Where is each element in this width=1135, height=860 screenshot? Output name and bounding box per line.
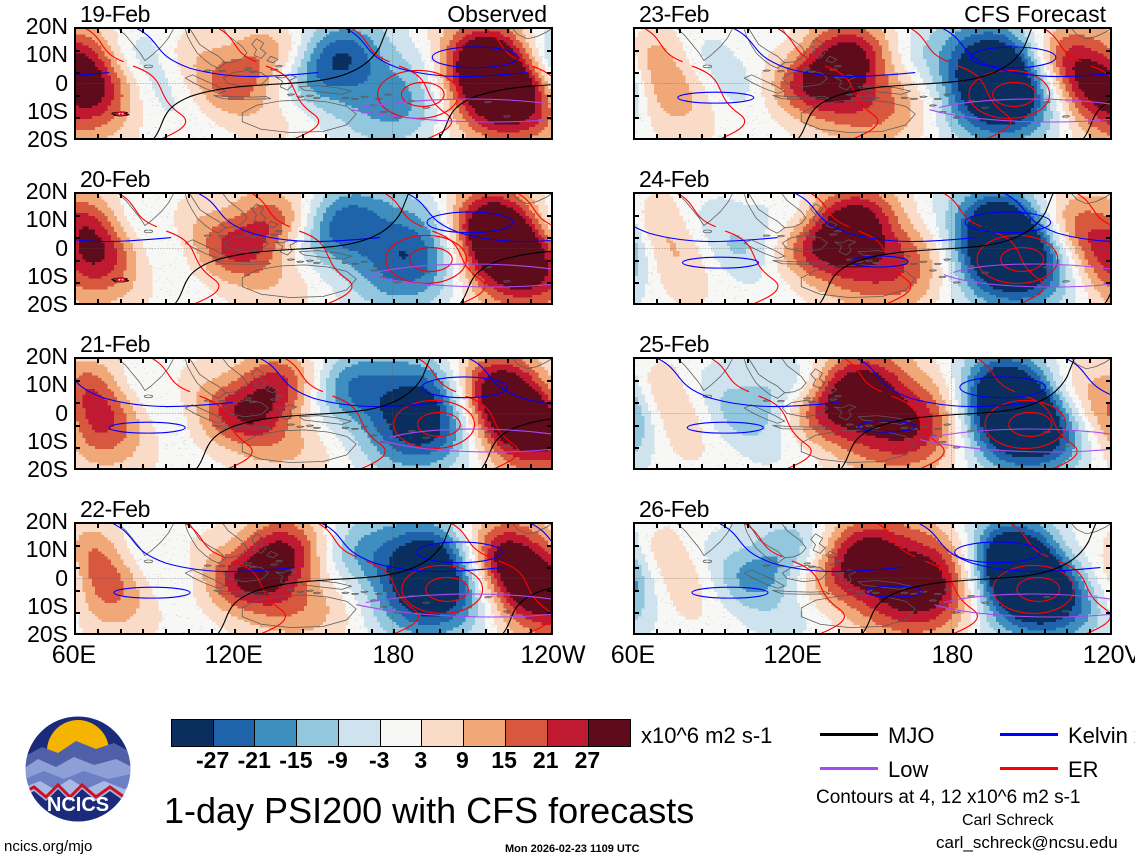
axis-tick (211, 134, 213, 140)
axis-tick (547, 380, 553, 382)
axis-tick (120, 299, 122, 305)
axis-tick (547, 447, 553, 449)
axis-tick (952, 464, 954, 470)
axis-tick (393, 629, 395, 635)
axis-tick (74, 567, 80, 569)
y-tick-label: 10N (0, 206, 68, 233)
axis-tick (1021, 464, 1023, 470)
axis-tick (1089, 299, 1091, 305)
axis-tick (302, 357, 304, 363)
axis-tick (861, 192, 863, 198)
axis-tick (815, 629, 817, 635)
axis-tick (302, 522, 304, 528)
axis-tick (1044, 357, 1046, 363)
colorbar-segment (296, 720, 338, 746)
axis-tick (633, 95, 639, 97)
axis-tick (279, 522, 281, 528)
axis-tick (439, 134, 441, 140)
axis-tick (1106, 447, 1112, 449)
axis-tick (462, 629, 464, 635)
axis-tick (188, 629, 190, 635)
axis-tick (279, 299, 281, 305)
axis-tick (507, 629, 509, 635)
axis-tick (416, 464, 418, 470)
axis-tick (633, 215, 639, 217)
axis-tick (884, 134, 886, 140)
axis-tick (547, 95, 553, 97)
axis-tick (188, 522, 190, 528)
axis-tick (234, 629, 236, 635)
axis-tick (74, 260, 80, 262)
axis-tick (234, 192, 236, 198)
axis-tick (633, 237, 639, 239)
axis-tick (1106, 590, 1112, 592)
axis-tick (97, 192, 99, 198)
axis-tick (74, 590, 80, 592)
axis-tick (142, 192, 144, 198)
svg-text:H: H (118, 113, 124, 115)
axis-tick (348, 192, 350, 198)
axis-tick (439, 357, 441, 363)
axis-tick (439, 522, 441, 528)
axis-tick (656, 299, 658, 305)
site-url: ncics.org/mjo (4, 838, 92, 855)
axis-tick (120, 192, 122, 198)
axis-tick (507, 134, 509, 140)
axis-tick (1106, 95, 1112, 97)
axis-tick (325, 464, 327, 470)
legend-label: MJO (888, 723, 934, 749)
colorbar-tick-label: 27 (557, 747, 617, 774)
axis-tick (747, 357, 749, 363)
axis-tick (724, 299, 726, 305)
axis-tick (679, 299, 681, 305)
axis-tick (701, 192, 703, 198)
axis-tick (462, 522, 464, 528)
axis-tick (74, 95, 80, 97)
axis-tick (1106, 567, 1112, 569)
axis-tick (633, 260, 639, 262)
panel-26-feb-forecast (633, 522, 1112, 635)
axis-tick (1106, 237, 1112, 239)
axis-tick (998, 629, 1000, 635)
axis-tick (142, 522, 144, 528)
axis-tick (633, 282, 639, 284)
axis-tick (724, 522, 726, 528)
axis-tick (907, 357, 909, 363)
panel-date-label: 26-Feb (639, 496, 709, 523)
x-tick-label: 120W (509, 641, 597, 670)
axis-tick (998, 464, 1000, 470)
axis-tick (907, 192, 909, 198)
axis-tick (838, 629, 840, 635)
colorbar-segment (213, 720, 255, 746)
axis-tick (930, 299, 932, 305)
axis-tick (724, 629, 726, 635)
axis-tick (530, 192, 532, 198)
axis-tick (1089, 134, 1091, 140)
axis-tick (793, 134, 795, 140)
axis-tick (884, 357, 886, 363)
axis-tick (770, 357, 772, 363)
axis-tick (975, 464, 977, 470)
y-tick-label: 10N (0, 536, 68, 563)
axis-tick (547, 567, 553, 569)
axis-tick (507, 192, 509, 198)
axis-tick (234, 464, 236, 470)
y-tick-label: 0 (0, 400, 68, 427)
axis-tick (793, 522, 795, 528)
axis-tick (861, 134, 863, 140)
axis-tick (142, 299, 144, 305)
axis-tick (302, 299, 304, 305)
axis-tick (256, 357, 258, 363)
y-tick-label: 0 (0, 235, 68, 262)
axis-tick (1021, 522, 1023, 528)
axis-tick (1106, 282, 1112, 284)
axis-tick (97, 299, 99, 305)
axis-tick (325, 192, 327, 198)
axis-tick (633, 117, 639, 119)
y-tick-label: 10N (0, 41, 68, 68)
axis-tick (793, 192, 795, 198)
axis-tick (884, 464, 886, 470)
axis-tick (998, 192, 1000, 198)
axis-tick (211, 522, 213, 528)
axis-tick (701, 464, 703, 470)
axis-tick (815, 522, 817, 528)
colorbar-segment (463, 720, 505, 746)
axis-tick (838, 299, 840, 305)
axis-tick (1021, 134, 1023, 140)
axis-tick (371, 357, 373, 363)
x-tick-label: 120E (190, 641, 278, 670)
x-tick-label: 120V (1068, 641, 1135, 670)
axis-tick (679, 357, 681, 363)
axis-tick (74, 545, 80, 547)
axis-tick (998, 299, 1000, 305)
axis-tick (1106, 260, 1112, 262)
axis-tick (656, 629, 658, 635)
axis-tick (142, 357, 144, 363)
axis-tick (97, 464, 99, 470)
axis-tick (656, 522, 658, 528)
axis-tick (507, 299, 509, 305)
axis-tick (656, 192, 658, 198)
colorbar (171, 719, 631, 747)
axis-tick (861, 299, 863, 305)
axis-tick (679, 464, 681, 470)
axis-tick (1089, 192, 1091, 198)
axis-tick (747, 299, 749, 305)
axis-tick (234, 134, 236, 140)
axis-tick (416, 299, 418, 305)
axis-tick (975, 357, 977, 363)
axis-tick (348, 299, 350, 305)
axis-tick (930, 464, 932, 470)
axis-tick (393, 522, 395, 528)
axis-tick (701, 299, 703, 305)
y-tick-label: 10N (0, 371, 68, 398)
axis-tick (633, 50, 639, 52)
axis-tick (530, 134, 532, 140)
axis-tick (279, 192, 281, 198)
axis-tick (393, 464, 395, 470)
axis-tick (633, 447, 639, 449)
axis-tick (188, 192, 190, 198)
axis-tick (530, 299, 532, 305)
axis-tick (256, 522, 258, 528)
colorbar-unit-label: x10^6 m2 s-1 (641, 723, 772, 749)
axis-tick (507, 464, 509, 470)
axis-tick (1021, 192, 1023, 198)
axis-tick (1106, 425, 1112, 427)
axis-tick (747, 134, 749, 140)
panel-24-feb-forecast (633, 192, 1112, 305)
axis-tick (256, 134, 258, 140)
axis-tick (907, 134, 909, 140)
axis-tick (975, 629, 977, 635)
axis-tick (952, 357, 954, 363)
axis-tick (1066, 357, 1068, 363)
axis-tick (1021, 629, 1023, 635)
y-tick-label: 20S (0, 456, 68, 483)
y-tick-label: 10S (0, 263, 68, 290)
axis-tick (439, 192, 441, 198)
axis-tick (1106, 50, 1112, 52)
axis-tick (462, 357, 464, 363)
axis-tick (656, 134, 658, 140)
axis-tick (165, 192, 167, 198)
ncics-logo: NCICS (24, 715, 132, 828)
axis-tick (348, 629, 350, 635)
axis-tick (1021, 357, 1023, 363)
panel-23-feb-forecast (633, 27, 1112, 140)
axis-tick (165, 629, 167, 635)
axis-tick (547, 590, 553, 592)
axis-tick (256, 192, 258, 198)
axis-tick (462, 299, 464, 305)
x-tick-label: 180 (349, 641, 437, 670)
axis-tick (530, 629, 532, 635)
axis-tick (74, 237, 80, 239)
axis-tick (1066, 629, 1068, 635)
axis-tick (279, 134, 281, 140)
axis-tick (952, 134, 954, 140)
axis-tick (633, 72, 639, 74)
axis-tick (679, 629, 681, 635)
axis-tick (793, 464, 795, 470)
axis-tick (838, 134, 840, 140)
panel-25-feb-forecast (633, 357, 1112, 470)
x-tick-label: 120E (749, 641, 837, 670)
axis-tick (724, 134, 726, 140)
axis-tick (485, 629, 487, 635)
axis-tick (188, 134, 190, 140)
axis-tick (120, 629, 122, 635)
axis-tick (952, 629, 954, 635)
axis-tick (416, 629, 418, 635)
axis-tick (211, 629, 213, 635)
axis-tick (884, 192, 886, 198)
axis-tick (188, 464, 190, 470)
axis-tick (975, 192, 977, 198)
axis-tick (770, 134, 772, 140)
axis-tick (701, 134, 703, 140)
axis-tick (861, 357, 863, 363)
axis-tick (998, 134, 1000, 140)
y-tick-label: 20S (0, 291, 68, 318)
y-tick-label: 20N (0, 343, 68, 370)
axis-tick (907, 464, 909, 470)
axis-tick (530, 522, 532, 528)
axis-tick (462, 464, 464, 470)
axis-tick (793, 629, 795, 635)
axis-tick (74, 72, 80, 74)
axis-tick (1089, 522, 1091, 528)
axis-tick (975, 522, 977, 528)
axis-tick (393, 192, 395, 198)
axis-tick (74, 282, 80, 284)
svg-text:H: H (118, 279, 124, 281)
axis-tick (838, 522, 840, 528)
axis-tick (416, 357, 418, 363)
x-tick-label: 180 (908, 641, 996, 670)
axis-tick (815, 464, 817, 470)
axis-tick (679, 522, 681, 528)
colorbar-segment (254, 720, 296, 746)
axis-tick (165, 357, 167, 363)
axis-tick (97, 522, 99, 528)
axis-tick (74, 380, 80, 382)
axis-tick (1089, 464, 1091, 470)
axis-tick (165, 299, 167, 305)
axis-tick (952, 192, 954, 198)
axis-tick (724, 357, 726, 363)
axis-tick (325, 629, 327, 635)
axis-tick (97, 357, 99, 363)
axis-tick (325, 299, 327, 305)
y-tick-label: 10S (0, 593, 68, 620)
axis-tick (188, 299, 190, 305)
axis-tick (485, 357, 487, 363)
axis-tick (633, 402, 639, 404)
axis-tick (74, 215, 80, 217)
axis-tick (74, 117, 80, 119)
axis-tick (815, 299, 817, 305)
axis-tick (371, 522, 373, 528)
axis-tick (930, 192, 932, 198)
axis-tick (770, 629, 772, 635)
axis-tick (371, 134, 373, 140)
axis-tick (1106, 72, 1112, 74)
axis-tick (701, 629, 703, 635)
legend-line-mjo (820, 733, 878, 736)
axis-tick (747, 464, 749, 470)
legend-label: Low (888, 757, 928, 783)
axis-tick (325, 522, 327, 528)
axis-tick (1021, 299, 1023, 305)
axis-tick (884, 299, 886, 305)
axis-tick (485, 299, 487, 305)
axis-tick (120, 522, 122, 528)
axis-tick (1044, 629, 1046, 635)
y-tick-label: 0 (0, 565, 68, 592)
axis-tick (907, 522, 909, 528)
axis-tick (838, 192, 840, 198)
ncics-logo-text: NCICS (47, 794, 109, 816)
axis-tick (633, 545, 639, 547)
axis-tick (998, 522, 1000, 528)
colorbar-segment (172, 720, 213, 746)
panel-19-feb-observed: H (74, 27, 553, 140)
axis-tick (393, 134, 395, 140)
axis-tick (747, 192, 749, 198)
axis-tick (724, 192, 726, 198)
axis-tick (462, 192, 464, 198)
axis-tick (279, 629, 281, 635)
axis-tick (485, 134, 487, 140)
axis-tick (952, 522, 954, 528)
axis-tick (462, 134, 464, 140)
axis-tick (325, 357, 327, 363)
axis-tick (507, 522, 509, 528)
axis-tick (1106, 612, 1112, 614)
panel-date-label: 20-Feb (80, 166, 150, 193)
colorbar-segment (421, 720, 463, 746)
axis-tick (861, 522, 863, 528)
axis-tick (120, 464, 122, 470)
axis-tick (371, 299, 373, 305)
axis-tick (975, 299, 977, 305)
axis-tick (679, 192, 681, 198)
axis-tick (633, 590, 639, 592)
axis-tick (348, 464, 350, 470)
axis-tick (547, 72, 553, 74)
axis-tick (120, 357, 122, 363)
axis-tick (142, 464, 144, 470)
axis-tick (815, 134, 817, 140)
legend-label: ER (1068, 757, 1099, 783)
axis-tick (97, 134, 99, 140)
axis-tick (793, 357, 795, 363)
axis-tick (234, 299, 236, 305)
axis-tick (547, 50, 553, 52)
axis-tick (1106, 215, 1112, 217)
axis-tick (211, 357, 213, 363)
axis-tick (547, 402, 553, 404)
axis-tick (530, 464, 532, 470)
axis-tick (1106, 402, 1112, 404)
axis-tick (930, 522, 932, 528)
axis-tick (547, 282, 553, 284)
axis-tick (998, 357, 1000, 363)
axis-tick (74, 425, 80, 427)
axis-tick (1089, 629, 1091, 635)
axis-tick (507, 357, 509, 363)
panel-21-feb-observed (74, 357, 553, 470)
axis-tick (547, 260, 553, 262)
axis-tick (371, 192, 373, 198)
ncics-logo-graphic: NCICS (24, 715, 132, 823)
axis-tick (211, 299, 213, 305)
axis-tick (861, 464, 863, 470)
axis-tick (348, 522, 350, 528)
axis-tick (1106, 380, 1112, 382)
legend-line-low (820, 767, 878, 770)
panel-22-feb-observed (74, 522, 553, 635)
axis-tick (325, 134, 327, 140)
